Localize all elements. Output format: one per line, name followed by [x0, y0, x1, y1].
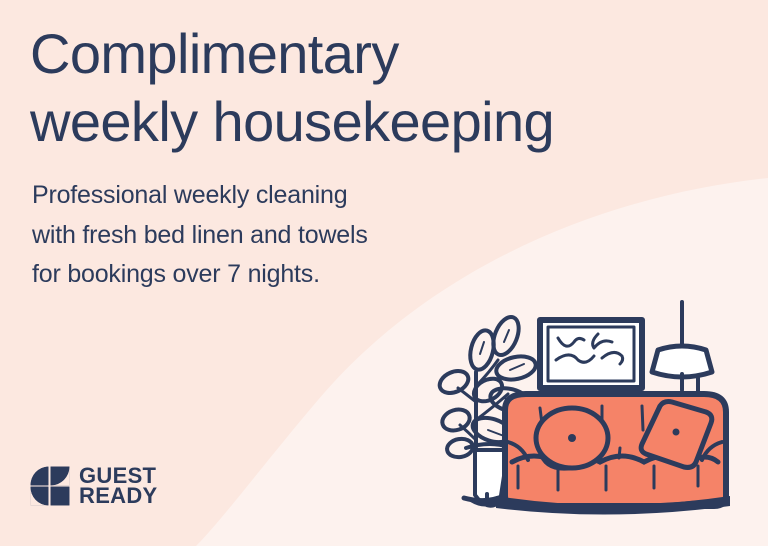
promo-card: Complimentary weekly housekeeping Profes… [0, 0, 768, 546]
pendant-lamp [652, 302, 712, 398]
cushion-left [536, 408, 608, 471]
brand-wordmark: GUEST READY [79, 466, 158, 506]
brand-logo: GUEST READY [30, 466, 158, 506]
living-room-illustration [430, 290, 768, 546]
brand-line-2: READY [79, 486, 158, 506]
page-title: Complimentary weekly housekeeping [30, 20, 680, 157]
guestready-quadrant-icon [30, 466, 70, 506]
framed-picture [540, 320, 642, 388]
subtitle-text: Professional weekly cleaning with fresh … [32, 176, 462, 295]
sofa [496, 394, 730, 515]
